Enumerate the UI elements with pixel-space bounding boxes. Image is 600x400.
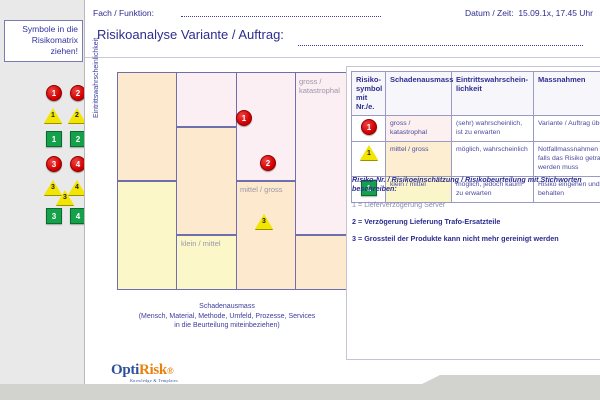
risk-matrix: Eintrittswahrscheinlichkeit <box>95 66 360 296</box>
x-axis-label: Schadenausmass <box>107 302 347 312</box>
document-page: Fach / Funktion: Datum / Zeit: 15.09.1x,… <box>84 0 600 400</box>
legend-col-wahrscheinlichkeit: Eintrittswahrschein-lichkeit <box>452 72 534 116</box>
page-header: Fach / Funktion: Datum / Zeit: 15.09.1x,… <box>93 6 597 52</box>
risk-matrix-screen: Symbole in die Risikomatrix ziehen! 1 2 … <box>0 0 600 400</box>
square-icon: 3 <box>46 208 62 224</box>
legend-massnahmen-medium: Notfallmassnahmen definieren, falls das … <box>534 142 600 177</box>
risk-notes-title: Risiko-Nr. / Risikoeinschätzung / Risiko… <box>352 175 600 193</box>
legend-symbol-cell: 1 <box>352 142 386 177</box>
warning-triangle-icon: 3 <box>56 190 74 205</box>
auftrag-input[interactable] <box>298 37 583 46</box>
header-divider <box>85 57 600 58</box>
legend-header-row: Risiko-symbol mit Nr./e. Schadenausmass … <box>352 72 600 116</box>
page-title: Risikoanalyse Variante / Auftrag: <box>97 27 284 42</box>
palette-hint: Symbole in die Risikomatrix ziehen! <box>4 20 83 62</box>
zone-label-low: klein / mittel <box>181 239 237 248</box>
legend-massnahmen-high: Variante / Auftrag überprüfen! <box>534 116 600 142</box>
matrix-marker-3[interactable]: 3 <box>255 214 273 229</box>
x-axis-sub-2: in die Beurteilung miteinbeziehen) <box>107 321 347 331</box>
warning-triangle-icon: 1 <box>44 108 62 123</box>
circle-icon: 2 <box>260 155 276 171</box>
risk-notes: Risiko-Nr. / Risikoeinschätzung / Risiko… <box>352 175 600 251</box>
palette-symbol-circle-1[interactable]: 1 <box>46 85 62 101</box>
legend-col-symbol: Risiko-symbol mit Nr./e. <box>352 72 386 116</box>
risk-note-2[interactable]: 2 = Verzögerung Lieferung Trafo-Ersatzte… <box>352 217 600 227</box>
x-axis-caption: Schadenausmass (Mensch, Material, Method… <box>107 302 347 331</box>
datum-zeit: Datum / Zeit: 15.09.1x, 17.45 Uhr <box>465 8 593 18</box>
header-row-meta: Fach / Funktion: Datum / Zeit: 15.09.1x,… <box>93 6 597 21</box>
header-row-title: Risikoanalyse Variante / Auftrag: <box>93 27 597 47</box>
zone-medium-b <box>177 127 236 235</box>
legend-panel: Risiko-symbol mit Nr./e. Schadenausmass … <box>346 66 600 360</box>
legend-schaden-high: gross / katastrophal <box>386 116 452 142</box>
palette-symbol-triangle-3b[interactable]: 3 <box>56 190 74 205</box>
legend-wahrscheinlichkeit-medium: möglich, wahrscheinlich <box>452 142 534 177</box>
zone-low-a <box>118 181 177 289</box>
zone-high-a <box>177 73 236 127</box>
fach-funktion-label: Fach / Funktion: <box>93 8 154 18</box>
matrix-marker-1[interactable]: 1 <box>236 110 252 126</box>
symbol-palette: Symbole in die Risikomatrix ziehen! 1 2 … <box>0 0 84 400</box>
zone-label-high: gross / katastrophal <box>299 77 353 95</box>
circle-icon: 1 <box>46 85 62 101</box>
palette-symbol-square-1[interactable]: 1 <box>46 131 62 147</box>
legend-col-schaden: Schadenausmass <box>386 72 452 116</box>
datum-zeit-value: 15.09.1x, 17.45 Uhr <box>518 8 593 18</box>
warning-triangle-icon: 1 <box>360 145 378 160</box>
matrix-grid[interactable]: gross / katastrophal mittel / gross klei… <box>117 72 356 290</box>
footer-bar <box>0 384 600 400</box>
square-icon: 1 <box>46 131 62 147</box>
matrix-marker-2[interactable]: 2 <box>260 155 276 171</box>
risk-note-1[interactable]: 1 = Lieferverzögerung Server <box>352 200 600 210</box>
warning-triangle-icon: 3 <box>255 214 273 229</box>
circle-icon: 1 <box>361 119 377 135</box>
palette-symbol-circle-3[interactable]: 3 <box>46 156 62 172</box>
legend-row-medium: 1 mittel / gross möglich, wahrscheinlich… <box>352 142 600 177</box>
legend-schaden-medium: mittel / gross <box>386 142 452 177</box>
zone-medium-a <box>118 73 177 181</box>
x-axis-sub-1: (Mensch, Material, Methode, Umfeld, Proz… <box>107 312 347 322</box>
palette-symbol-triangle-1[interactable]: 1 <box>44 108 62 123</box>
legend-symbol-cell: 1 <box>352 116 386 142</box>
y-axis-label: Eintrittswahrscheinlichkeit <box>93 38 100 118</box>
risk-note-3[interactable]: 3 = Grossteil der Produkte kann nicht me… <box>352 234 600 244</box>
zone-medium-c <box>237 181 296 289</box>
datum-zeit-label: Datum / Zeit: <box>465 8 514 18</box>
circle-icon: 3 <box>46 156 62 172</box>
legend-wahrscheinlichkeit-high: (sehr) wahrscheinlich, ist zu erwarten <box>452 116 534 142</box>
palette-symbol-square-3[interactable]: 3 <box>46 208 62 224</box>
fach-funktion-input[interactable] <box>181 8 381 17</box>
legend-row-high: 1 gross / katastrophal (sehr) wahrschein… <box>352 116 600 142</box>
zone-label-medium: mittel / gross <box>240 185 296 194</box>
legend-col-massnahmen: Massnahmen <box>534 72 600 116</box>
palette-symbol-area: 1 2 1 2 1 2 3 <box>0 80 84 230</box>
circle-icon: 1 <box>236 110 252 126</box>
